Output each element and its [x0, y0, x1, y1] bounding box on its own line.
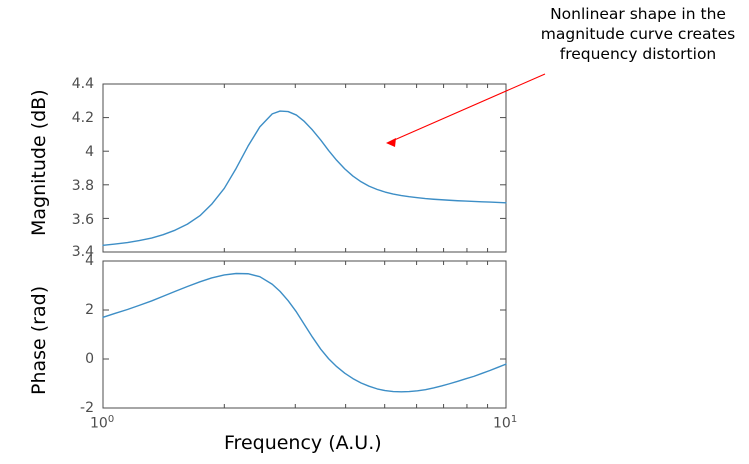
phase-ytick-label: -2: [38, 400, 94, 416]
magnitude-axis-label: Magnitude (dB): [28, 89, 50, 236]
phase-tick-marks: [103, 310, 506, 359]
phase-axis-label: Phase (rad): [28, 286, 50, 395]
xtick-label-mantissa: 10: [90, 416, 108, 432]
annotation-text: Nonlinear shape in the magnitude curve c…: [532, 4, 744, 64]
phase-ytick-label: 4: [38, 253, 94, 269]
xtick-label-decade-0: 100: [90, 414, 114, 432]
magnitude-curve: [103, 111, 506, 245]
phase-axes-box: [103, 261, 506, 408]
phase-x-tick-marks: [103, 261, 506, 408]
xtick-label-mantissa: 10: [493, 416, 511, 432]
magnitude-axes-box: [103, 84, 506, 252]
magnitude-x-tick-marks: [103, 84, 506, 252]
annotation-arrow-head: [386, 138, 396, 147]
xtick-label-decade-1: 101: [493, 414, 517, 432]
magnitude-tick-marks: [103, 118, 506, 219]
xtick-label-exponent: 0: [108, 414, 114, 425]
figure-canvas: 4.4 4.2 4 3.8 3.6 3.4 4 2 0 -2 100 101 M…: [0, 0, 749, 464]
frequency-axis-label: Frequency (A.U.): [224, 432, 382, 454]
phase-curve: [103, 274, 506, 392]
plot-svg: [0, 0, 749, 464]
xtick-label-exponent: 1: [511, 414, 517, 425]
